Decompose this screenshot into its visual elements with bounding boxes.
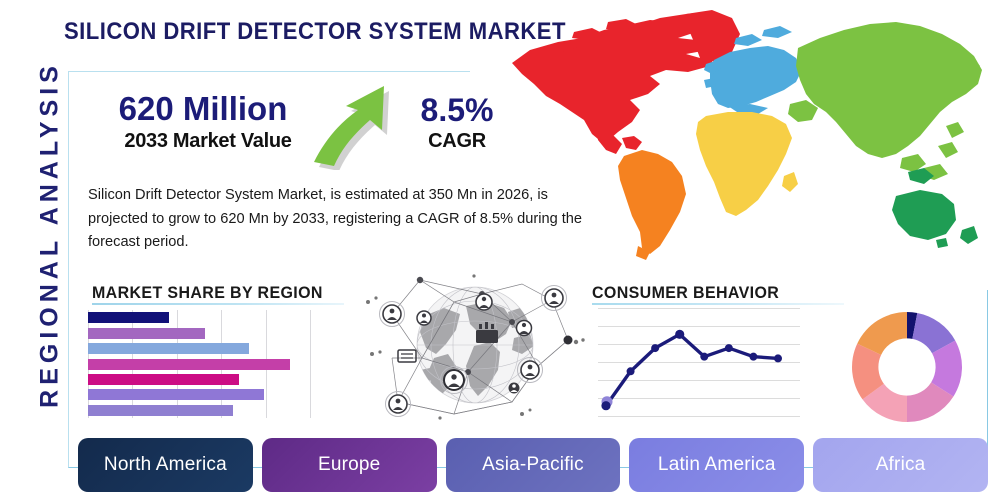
region-pill-latin-america[interactable]: Latin America	[629, 438, 804, 492]
consumer-behavior-header: CONSUMER BEHAVIOR	[592, 283, 779, 303]
line-chart-point	[725, 344, 733, 352]
bar-chart-bar	[88, 359, 290, 370]
market-value-caption: 2033 Market Value	[88, 130, 328, 153]
region-pill-europe[interactable]: Europe	[262, 438, 437, 492]
bar-chart-bar	[88, 328, 205, 339]
bar-fill	[88, 389, 264, 400]
line-chart-plot	[598, 308, 800, 420]
consumer-behavior-header-rule	[592, 303, 844, 305]
cagr-block: 8.5% CAGR	[402, 94, 512, 153]
bar-fill	[88, 343, 249, 354]
region-pill-group: North AmericaEuropeAsia-PacificLatin Ame…	[78, 438, 988, 492]
market-share-bar-chart	[88, 310, 310, 418]
cagr-value: 8.5%	[402, 94, 512, 128]
consumer-behavior-line-chart	[598, 308, 800, 420]
region-pill-north-america[interactable]: North America	[78, 438, 253, 492]
donut-plot	[848, 308, 966, 426]
bar-chart-bar	[88, 343, 249, 354]
cagr-caption: CAGR	[402, 130, 512, 153]
line-chart-point	[774, 354, 782, 362]
market-value-number: 620 Million	[88, 92, 318, 127]
region-pill-africa[interactable]: Africa	[813, 438, 988, 492]
bar-chart-gridline	[310, 310, 311, 418]
line-chart-point	[675, 330, 684, 339]
line-chart-point	[651, 344, 659, 352]
growth-arrow-icon	[308, 84, 400, 170]
line-chart-point	[700, 353, 708, 361]
line-chart-point	[627, 367, 635, 375]
bar-fill	[88, 374, 239, 385]
regional-analysis-side-label: REGIONAL ANALYSIS	[36, 35, 65, 435]
line-chart-point	[749, 353, 757, 361]
bar-fill	[88, 312, 169, 323]
infographic-canvas: REGIONAL ANALYSIS SILICON DRIFT DETECTOR…	[0, 0, 1000, 500]
bar-chart-bar	[88, 405, 233, 416]
market-share-header: MARKET SHARE BY REGION	[92, 283, 323, 303]
market-share-header-rule	[92, 303, 344, 305]
bar-fill	[88, 405, 233, 416]
bar-fill	[88, 328, 205, 339]
bar-chart-bar	[88, 312, 169, 323]
page-title: SILICON DRIFT DETECTOR SYSTEM MARKET	[64, 18, 566, 46]
consumer-behavior-donut-chart	[848, 308, 966, 426]
bar-chart-bar	[88, 374, 239, 385]
region-pill-asia-pacific[interactable]: Asia-Pacific	[446, 438, 621, 492]
line-chart-point	[601, 401, 610, 410]
network-globe-icon	[362, 262, 588, 428]
bar-fill	[88, 359, 290, 370]
bar-chart-bar	[88, 389, 264, 400]
market-description: Silicon Drift Detector System Market, is…	[88, 184, 600, 255]
